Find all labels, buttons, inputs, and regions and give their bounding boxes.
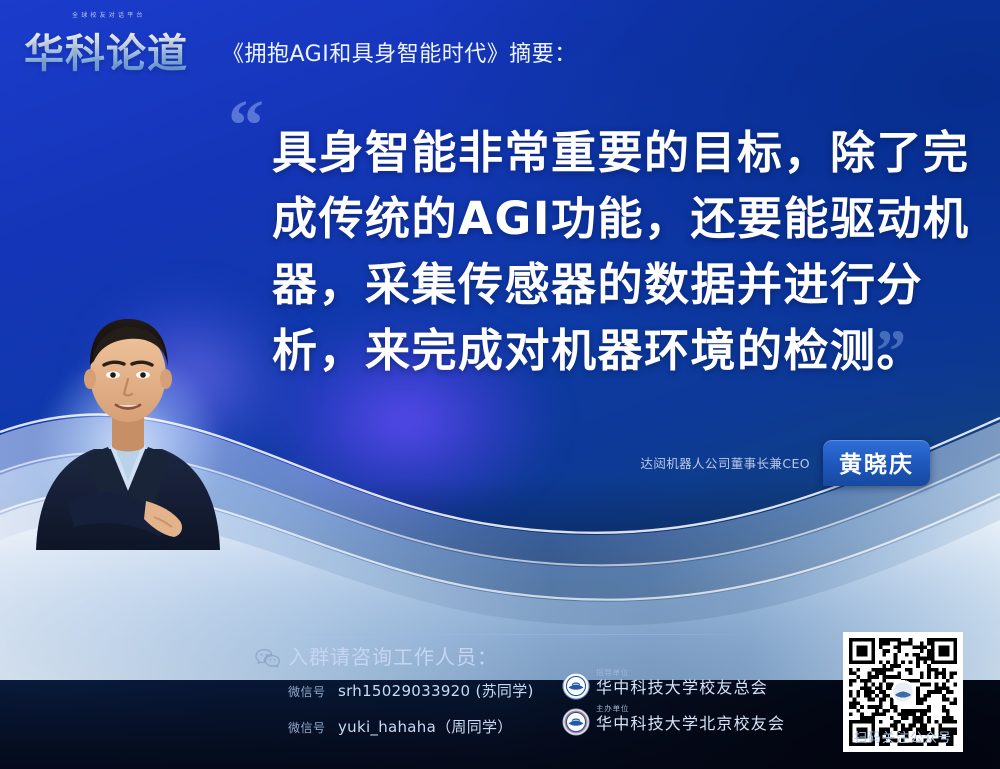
quote-line: 具身智能非常重要的目标，除了完 <box>272 120 944 186</box>
qr-caption: 扫码关注公众号 <box>833 727 973 746</box>
logo-wordmark: 华科论道 <box>24 21 188 79</box>
speaker-name-badge: 黄晓庆 <box>823 440 930 486</box>
contact-row: 微信号 srh15029033920 (苏同学) <box>288 680 534 701</box>
quote-line: 器，采集传感器的数据并进行分 <box>272 252 944 318</box>
footer-heading: 入群请咨询工作人员： <box>288 641 498 670</box>
speaker-portrait-photo <box>28 295 228 550</box>
quote-open-icon: “ <box>228 100 264 150</box>
quote-line: 析，来完成对机器环境的检测。 <box>272 318 944 384</box>
organization-text: 指导单位 华中科技大学校友总会 <box>596 668 768 698</box>
organization-name: 华中科技大学校友总会 <box>596 678 768 698</box>
poster-root: 全球校友对话平台 华科论道 《拥抱AGI和具身智能时代》摘要： <box>0 0 1000 769</box>
wechat-icon <box>255 648 281 670</box>
organization-kind: 主办单位 <box>596 704 785 714</box>
speaker-role: 达闼机器人公司董事长兼CEO <box>640 453 810 472</box>
organization-name: 华中科技大学北京校友会 <box>596 714 785 734</box>
contact-value[interactable]: srh15029033920 (苏同学) <box>338 682 534 700</box>
page-title: 《拥抱AGI和具身智能时代》摘要： <box>222 36 577 68</box>
organization-kind: 指导单位 <box>596 668 768 678</box>
university-seal-icon <box>562 708 590 736</box>
contact-label: 微信号 <box>288 685 326 699</box>
contact-value[interactable]: yuki_hahaha（周同学） <box>338 718 513 736</box>
poster-header: 全球校友对话平台 华科论道 《拥抱AGI和具身智能时代》摘要： <box>0 0 1000 92</box>
organization-text: 主办单位 华中科技大学北京校友会 <box>596 704 785 734</box>
logo-tagline: 全球校友对话平台 <box>72 10 146 19</box>
contact-row: 微信号 yuki_hahaha（周同学） <box>288 716 513 737</box>
university-seal-icon <box>562 672 590 700</box>
attribution: 达闼机器人公司董事长兼CEO 黄晓庆 <box>600 440 930 482</box>
footer-divider <box>278 634 756 635</box>
quote-text: 具身智能非常重要的目标，除了完 成传统的AGI功能，还要能驱动机 器，采集传感器… <box>272 120 944 384</box>
contact-label: 微信号 <box>288 721 326 735</box>
brand-logo[interactable]: 全球校友对话平台 华科论道 <box>24 10 212 70</box>
quote-close-icon: ” <box>876 330 906 372</box>
quote-line: 成传统的AGI功能，还要能驱动机 <box>272 186 944 252</box>
